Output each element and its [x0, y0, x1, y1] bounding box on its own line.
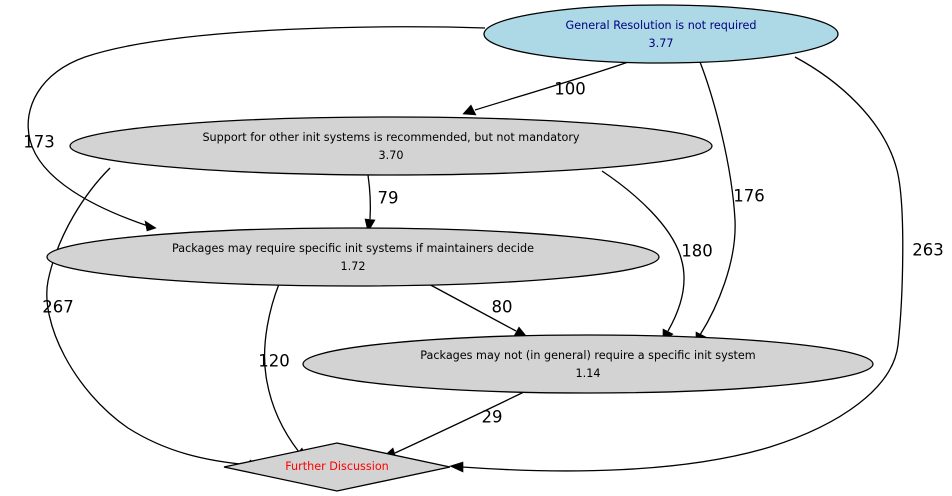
edge-require-to-maynot-label: 80 [492, 298, 513, 317]
graph-svg: 100 173 176 263 [0, 0, 952, 496]
node-packages-may-not-require-specific-init[interactable]: Packages may not (in general) require a … [303, 335, 873, 393]
node-support-other-init-score: 3.70 [379, 149, 404, 162]
node-further-discussion-label: Further Discussion [285, 460, 389, 473]
edge-gr-to-require-arrow [145, 221, 156, 231]
node-support-other-init-systems[interactable]: Support for other init systems is recomm… [70, 117, 712, 175]
edge-maynot-to-fd[interactable]: 29 [382, 390, 528, 458]
node-packages-may-require-specific-init[interactable]: Packages may require specific init syste… [47, 228, 659, 286]
node-support-other-init-ellipse [70, 117, 712, 175]
edge-gr-to-maynot-label: 176 [733, 187, 765, 206]
edge-support-to-require-path [368, 175, 370, 219]
edge-support-to-require[interactable]: 79 [365, 175, 399, 232]
node-packages-may-not-label: Packages may not (in general) require a … [420, 349, 755, 362]
diagram-canvas: 100 173 176 263 [0, 0, 952, 496]
node-packages-may-require-ellipse [47, 228, 659, 286]
edge-gr-to-maynot-path [700, 62, 735, 335]
edge-gr-to-support-path [475, 61, 631, 110]
edge-require-to-fd[interactable]: 120 [258, 284, 307, 459]
node-packages-may-require-score: 1.72 [341, 260, 366, 273]
node-packages-may-require-label: Packages may require specific init syste… [172, 242, 534, 255]
edge-gr-to-fd-arrow [450, 462, 463, 472]
node-general-resolution-label: General Resolution is not required [566, 19, 757, 32]
edge-gr-to-require-label: 173 [23, 133, 55, 152]
edge-support-to-maynot-label: 180 [681, 242, 713, 261]
edge-maynot-to-fd-label: 29 [482, 408, 503, 427]
edge-gr-to-fd-label: 263 [912, 241, 944, 260]
edge-support-to-fd-label: 267 [42, 298, 74, 317]
edge-maynot-to-fd-path [395, 390, 528, 453]
node-packages-may-not-score: 1.14 [576, 367, 601, 380]
edge-require-to-maynot[interactable]: 80 [425, 282, 527, 337]
node-general-resolution-score: 3.77 [649, 37, 674, 50]
node-further-discussion[interactable]: Further Discussion [224, 443, 450, 491]
node-support-other-init-label: Support for other init systems is recomm… [202, 131, 579, 144]
edge-gr-to-support-label: 100 [554, 80, 586, 99]
nodes-layer: General Resolution is not required 3.77 … [47, 5, 873, 491]
node-packages-may-not-ellipse [303, 335, 873, 393]
edge-support-to-fd[interactable]: 267 [42, 168, 263, 470]
node-general-resolution-not-required[interactable]: General Resolution is not required 3.77 [484, 5, 838, 63]
edge-require-to-fd-label: 120 [258, 352, 290, 371]
edge-support-to-fd-path [47, 168, 250, 465]
node-general-resolution-ellipse [484, 5, 838, 63]
edge-gr-to-support-arrow [463, 105, 476, 115]
edge-gr-to-maynot[interactable]: 176 [696, 62, 765, 345]
edge-gr-to-support[interactable]: 100 [463, 61, 631, 115]
edge-support-to-require-label: 79 [378, 189, 399, 208]
